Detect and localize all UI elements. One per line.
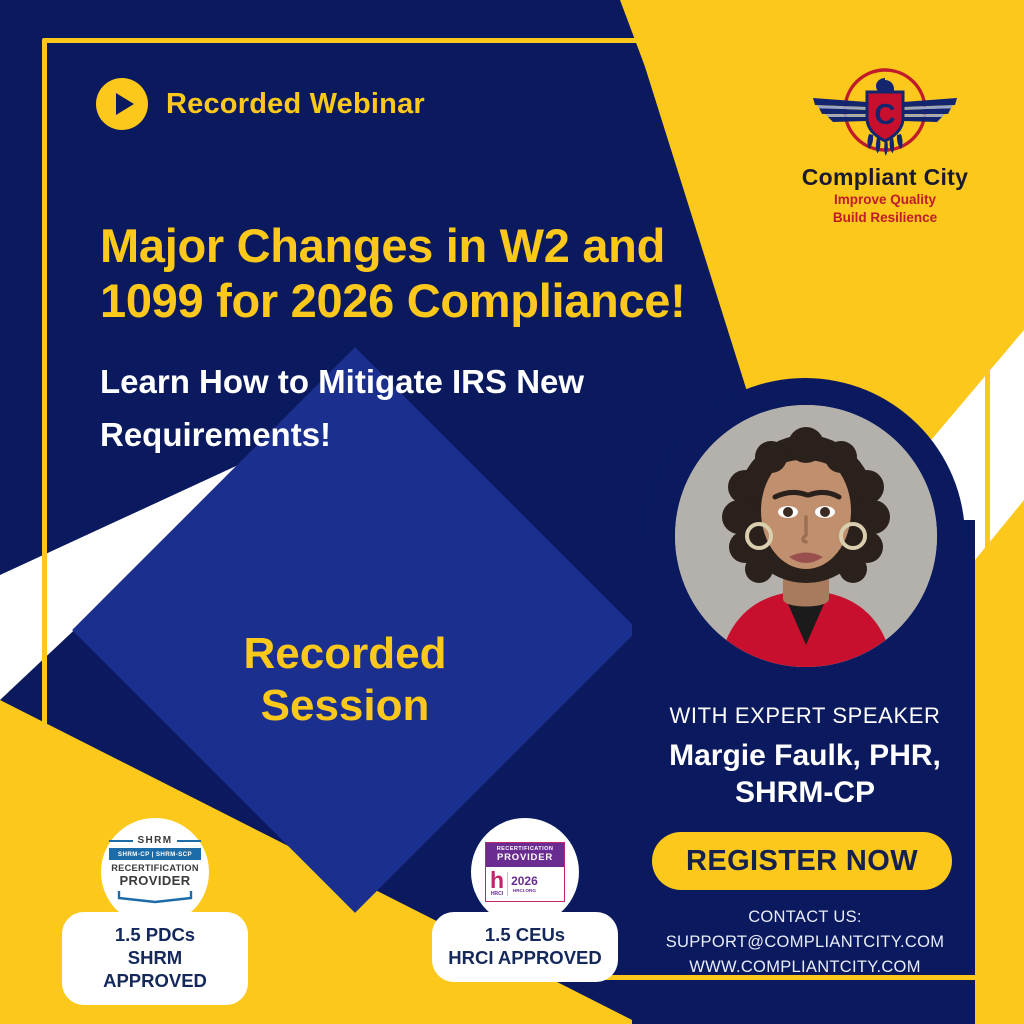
shrm-seal-bottom: PROVIDER bbox=[109, 873, 201, 888]
shrm-seal-top: SHRM bbox=[137, 835, 172, 846]
avatar bbox=[675, 405, 937, 667]
recorded-session-line-1: Recorded bbox=[200, 628, 490, 680]
shrm-credit-pill: 1.5 PDCs SHRM APPROVED bbox=[62, 912, 248, 1005]
hrci-seal-url: HRCI.ORG bbox=[513, 888, 536, 893]
contact-label: CONTACT US: bbox=[640, 905, 970, 930]
shrm-credit-badge: SHRM SHRM-CP | SHRM-SCP RECERTIFICATION … bbox=[62, 818, 248, 1005]
speaker-name-line-2: SHRM-CP bbox=[640, 775, 970, 812]
subheadline-line-1: Learn How to Mitigate IRS New bbox=[100, 355, 700, 408]
speaker-name: Margie Faulk, PHR, SHRM-CP bbox=[640, 738, 970, 811]
hrci-seal-year: 2026 bbox=[511, 874, 538, 888]
speaker-name-line-1: Margie Faulk, PHR, bbox=[640, 738, 970, 775]
hrci-ceu-value: 1.5 CEUs bbox=[448, 923, 602, 946]
recorded-session-line-2: Session bbox=[200, 680, 490, 732]
recorded-session-label: Recorded Session bbox=[200, 628, 490, 732]
hrci-seal-icon: RECERTIFICATION PROVIDER h HRCI 2026 HRC… bbox=[471, 818, 579, 926]
hrci-seal-mid: PROVIDER bbox=[486, 852, 564, 863]
shrm-pdc-value: 1.5 PDCs bbox=[78, 923, 232, 946]
play-icon bbox=[96, 78, 148, 130]
contact-info: CONTACT US: SUPPORT@COMPLIANTCITY.COM WW… bbox=[640, 905, 970, 979]
page-title: Major Changes in W2 and 1099 for 2026 Co… bbox=[100, 218, 740, 329]
page-subtitle: Learn How to Mitigate IRS New Requiremen… bbox=[100, 355, 700, 462]
webinar-promo-poster: Recorded Webinar bbox=[0, 0, 1024, 1024]
speaker-portrait-icon bbox=[675, 405, 937, 667]
contact-website[interactable]: WWW.COMPLIANTCITY.COM bbox=[640, 955, 970, 980]
compliant-city-logo: C Compliant City Improve Quality Build R… bbox=[795, 62, 975, 227]
recorded-webinar-label: Recorded Webinar bbox=[166, 88, 425, 121]
contact-email[interactable]: SUPPORT@COMPLIANTCITY.COM bbox=[640, 930, 970, 955]
hrci-credit-badge: RECERTIFICATION PROVIDER h HRCI 2026 HRC… bbox=[432, 818, 618, 982]
svg-text:C: C bbox=[875, 99, 896, 131]
eagle-shield-wings-icon: C bbox=[795, 62, 975, 162]
hrci-seal-org: HRCI bbox=[491, 891, 504, 897]
logo-company-name: Compliant City bbox=[795, 164, 975, 191]
shrm-seal-bar: SHRM-CP | SHRM-SCP bbox=[109, 848, 201, 860]
shrm-seal-mid: RECERTIFICATION bbox=[109, 863, 201, 873]
shrm-approved-label: SHRM APPROVED bbox=[78, 946, 232, 992]
logo-tagline-1: Improve Quality bbox=[795, 191, 975, 209]
register-now-button[interactable]: REGISTER NOW bbox=[652, 832, 952, 890]
speaker-with-label: WITH EXPERT SPEAKER bbox=[640, 703, 970, 729]
shrm-seal-icon: SHRM SHRM-CP | SHRM-SCP RECERTIFICATION … bbox=[101, 818, 209, 926]
subheadline-line-2: Requirements! bbox=[100, 408, 700, 461]
recorded-webinar-badge: Recorded Webinar bbox=[96, 78, 425, 130]
hrci-seal-letter: h bbox=[490, 870, 504, 891]
headline-line-2: 1099 for 2026 Compliance! bbox=[100, 273, 740, 328]
headline-line-1: Major Changes in W2 and bbox=[100, 218, 740, 273]
hrci-approved-label: HRCI APPROVED bbox=[448, 946, 602, 969]
logo-tagline-2: Build Resilience bbox=[795, 209, 975, 227]
